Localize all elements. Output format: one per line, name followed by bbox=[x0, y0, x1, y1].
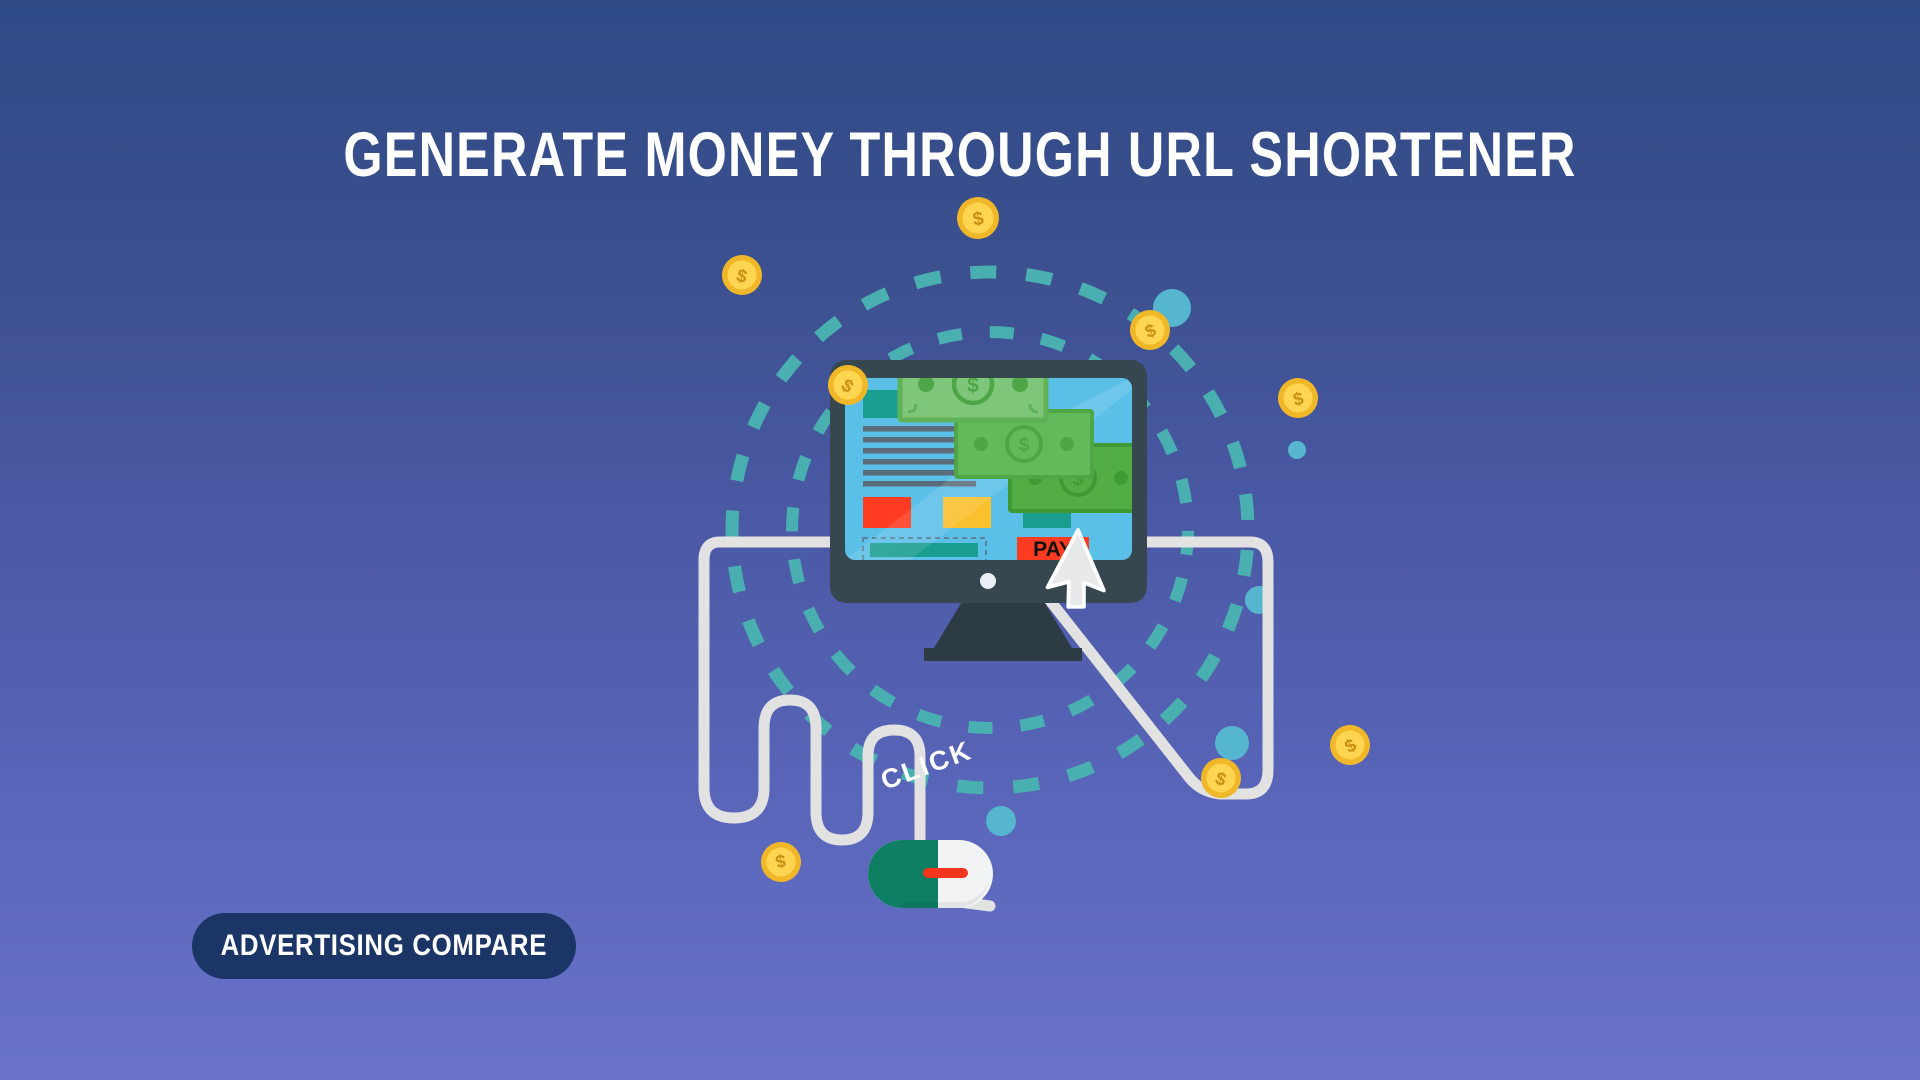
coin: $ bbox=[757, 838, 804, 885]
coin: $ bbox=[718, 251, 766, 299]
poster-canvas: GENERATE MONEY THROUGH URL SHORTENER bbox=[0, 0, 1920, 1080]
monitor-stand-base bbox=[924, 648, 1082, 661]
page-title: GENERATE MONEY THROUGH URL SHORTENER bbox=[192, 124, 1728, 187]
brand-badge-label: ADVERTISING COMPARE bbox=[221, 929, 548, 963]
accent-dot bbox=[1215, 726, 1249, 760]
accent-dot bbox=[986, 806, 1016, 836]
coin: $ bbox=[954, 194, 1003, 243]
monitor-power-dot bbox=[980, 573, 996, 589]
coin: $ bbox=[1323, 718, 1378, 773]
brand-badge[interactable]: ADVERTISING COMPARE bbox=[192, 913, 576, 979]
monitor: $ $ $ bbox=[830, 348, 1147, 661]
svg-text:$: $ bbox=[1019, 435, 1030, 456]
mouse-scroll bbox=[923, 868, 968, 878]
illustration-container: $ $ $ bbox=[660, 200, 1360, 960]
coin: $ bbox=[1274, 374, 1322, 422]
banknote-1: $ bbox=[900, 348, 1046, 420]
accent-dot bbox=[1288, 441, 1306, 459]
computer-mouse[interactable] bbox=[868, 840, 993, 908]
